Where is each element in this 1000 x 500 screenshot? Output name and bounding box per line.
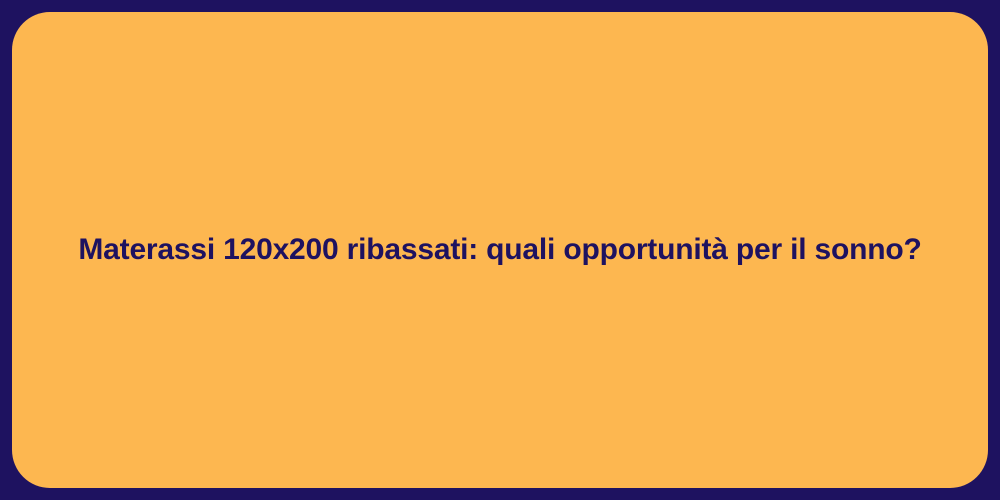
- banner-frame: Materassi 120x200 ribassati: quali oppor…: [0, 0, 1000, 500]
- banner-panel: Materassi 120x200 ribassati: quali oppor…: [12, 12, 988, 488]
- page-title: Materassi 120x200 ribassati: quali oppor…: [78, 231, 921, 269]
